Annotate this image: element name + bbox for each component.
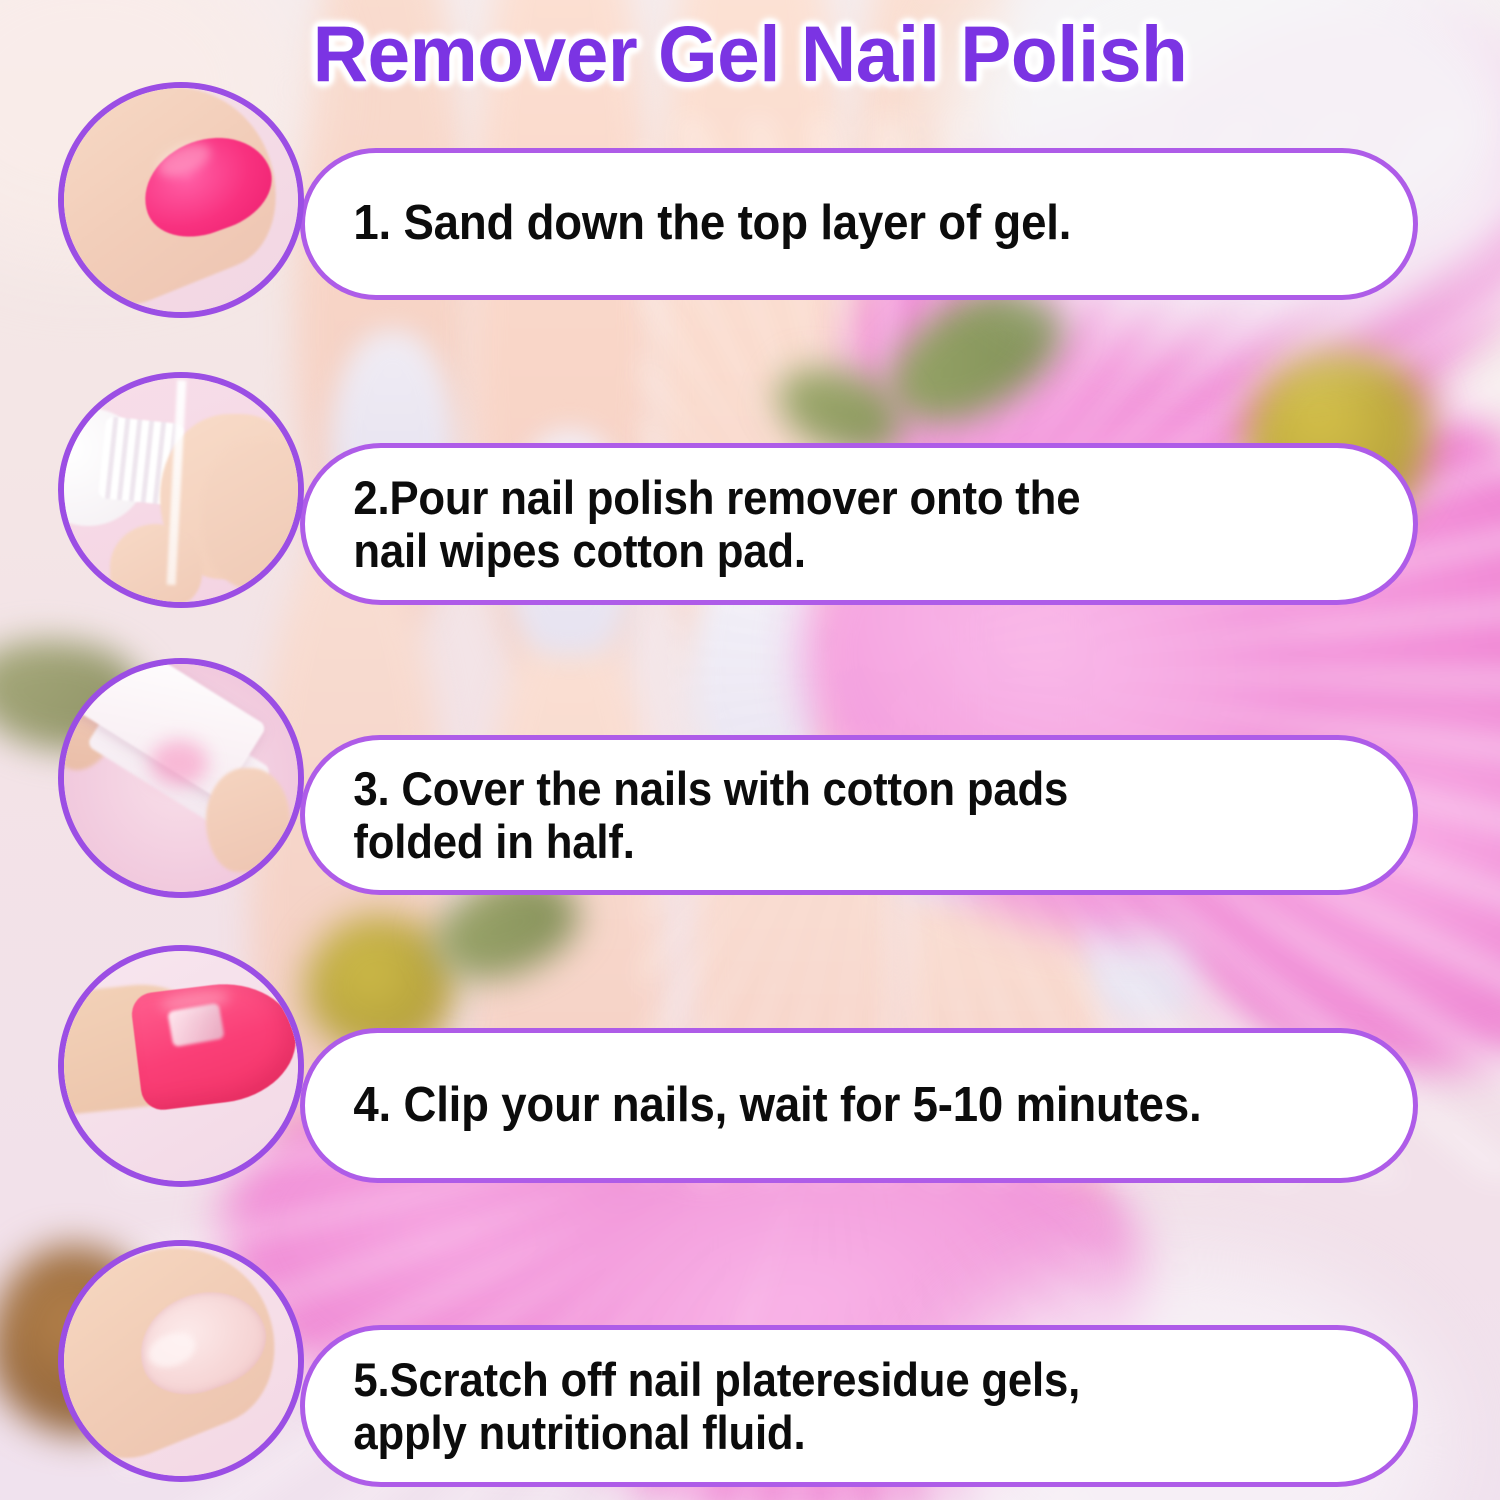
- step-text: 5.Scratch off nail plateresidue gels, ap…: [305, 1353, 1080, 1459]
- page-title: Remover Gel Nail Polish: [23, 14, 1478, 93]
- instruction-poster: Remover Gel Nail Polish 1. Sand down the…: [0, 0, 1500, 1500]
- steps-list: 1. Sand down the top layer of gel. 2.Pou…: [0, 0, 1500, 1500]
- step-thumbnail[interactable]: [58, 945, 304, 1187]
- step-bar[interactable]: 1. Sand down the top layer of gel.: [300, 148, 1418, 300]
- step-bar[interactable]: 2.Pour nail polish remover onto the nail…: [300, 443, 1418, 605]
- step-bar[interactable]: 5.Scratch off nail plateresidue gels, ap…: [300, 1325, 1418, 1487]
- step-text: 2.Pour nail polish remover onto the nail…: [305, 471, 1080, 577]
- step-text: 1. Sand down the top layer of gel.: [305, 196, 1071, 251]
- step-thumbnail[interactable]: [58, 82, 304, 318]
- step-thumbnail[interactable]: [58, 658, 304, 898]
- step-bar[interactable]: 3. Cover the nails with cotton pads fold…: [300, 735, 1418, 895]
- step-bar[interactable]: 4. Clip your nails, wait for 5-10 minute…: [300, 1028, 1418, 1183]
- step-thumbnail[interactable]: [58, 1240, 304, 1482]
- step-thumbnail[interactable]: [58, 372, 304, 608]
- step-text: 3. Cover the nails with cotton pads fold…: [305, 762, 1068, 868]
- step-text: 4. Clip your nails, wait for 5-10 minute…: [305, 1078, 1201, 1133]
